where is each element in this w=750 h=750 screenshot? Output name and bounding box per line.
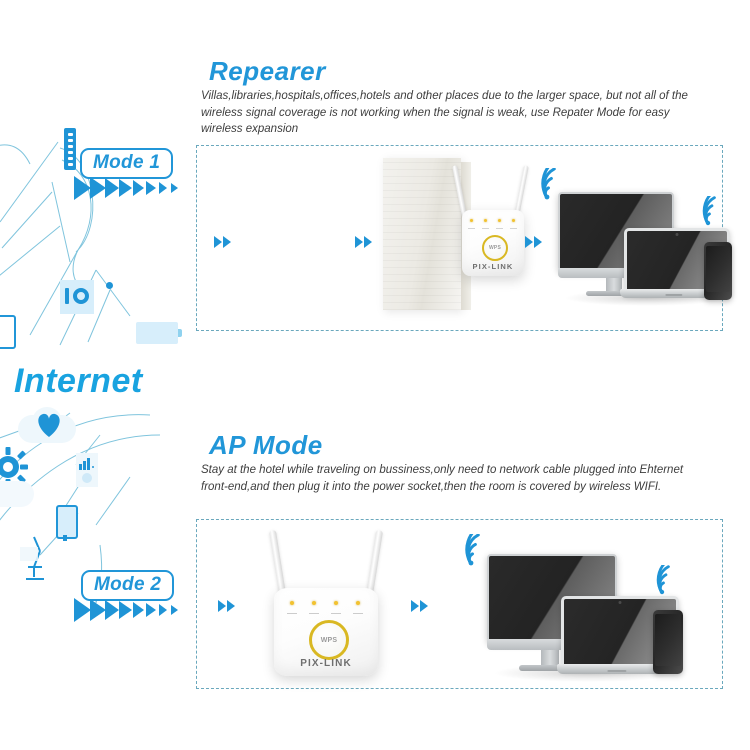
- arrow-icon: [171, 183, 178, 193]
- arrow-icon: [411, 600, 419, 612]
- arrow-icon: [90, 599, 106, 621]
- arrow-icon: [159, 604, 167, 616]
- screen-icon: [0, 315, 16, 349]
- repeater-body: WPS PIX-LINK: [462, 210, 524, 276]
- ap-mode-client-devices: [485, 552, 695, 682]
- arrow-icon: [218, 600, 226, 612]
- repeater-brand-label: PIX-LINK: [462, 262, 524, 271]
- wps-button-label: WPS: [321, 637, 338, 644]
- repeater-pre-wall-arrows: [355, 236, 372, 248]
- repeater-device: WPS PIX-LINK: [452, 168, 536, 280]
- smartphone: [653, 610, 683, 674]
- laptop-camera-icon: [676, 233, 679, 236]
- repeater-post-router-arrows: [525, 236, 542, 248]
- arrow-icon: [146, 603, 156, 617]
- led-indicator: [498, 219, 501, 222]
- arrow-icon: [171, 605, 178, 615]
- arrow-icon: [227, 600, 235, 612]
- node-dot-icon: [106, 282, 113, 289]
- led-indicator: [512, 219, 515, 222]
- wps-button-label: WPS: [489, 245, 501, 251]
- led-indicator: [334, 601, 338, 605]
- led-indicator: [356, 601, 360, 605]
- arrow-icon: [146, 181, 156, 195]
- ap-mode-section-description: Stay at the hotel while traveling on bus…: [201, 462, 691, 495]
- led-label-icon: [331, 608, 341, 614]
- arrow-icon: [420, 600, 428, 612]
- arrow-icon: [119, 179, 132, 197]
- ap-post-router-arrows: [411, 600, 428, 612]
- ap-mode-brand-label: PIX-LINK: [274, 658, 378, 669]
- mode-2-label: Mode 2: [94, 574, 161, 595]
- arrow-icon: [74, 598, 91, 622]
- desk-lamp-icon: [20, 533, 62, 583]
- led-indicator: [290, 601, 294, 605]
- arrow-icon: [534, 236, 542, 248]
- arrow-icon: [105, 600, 119, 620]
- ap-mode-device: WPS PIX-LINK: [258, 530, 394, 678]
- led-indicator: [484, 219, 487, 222]
- led-indicator: [312, 601, 316, 605]
- arrow-icon: [214, 236, 222, 248]
- ap-mode-body: WPS PIX-LINK: [274, 588, 378, 676]
- camera-icon: [60, 280, 94, 314]
- mode-1-label: Mode 1: [93, 152, 160, 173]
- repeater-section-description: Villas,libraries,hospitals,offices,hotel…: [201, 88, 691, 138]
- wps-button[interactable]: WPS: [309, 620, 349, 660]
- arrow-icon: [133, 180, 144, 196]
- mode-1-arrow-run: [74, 176, 178, 200]
- laptop-camera-icon: [619, 601, 622, 604]
- arrow-icon: [105, 178, 119, 198]
- smartphone-screen: [706, 246, 730, 292]
- led-label-icon: [510, 224, 517, 229]
- arrow-icon: [223, 236, 231, 248]
- arrow-icon: [90, 177, 106, 199]
- mode-1-badge[interactable]: Mode 1: [80, 148, 173, 179]
- cloud-heart-icon: [18, 407, 76, 445]
- led-indicator: [470, 219, 473, 222]
- led-label-icon: [496, 224, 503, 229]
- wps-button[interactable]: WPS: [482, 235, 508, 261]
- led-label-icon: [482, 224, 489, 229]
- mode-2-arrow-run: [74, 598, 178, 622]
- smartphone: [704, 242, 732, 300]
- arrow-icon: [159, 182, 167, 194]
- led-label-icon: [309, 608, 319, 614]
- arrow-icon: [74, 176, 91, 200]
- repeater-client-devices: [556, 190, 741, 305]
- arrow-icon: [364, 236, 372, 248]
- laptop-trackpad-notch: [665, 294, 682, 297]
- battery-icon: [136, 322, 178, 344]
- led-label-icon: [287, 608, 297, 614]
- cloud-shape-icon: [0, 481, 34, 507]
- mode-2-badge[interactable]: Mode 2: [81, 570, 174, 601]
- led-label-icon: [468, 224, 475, 229]
- smartphone-stand-icon: [63, 535, 67, 541]
- ap-inside-left-arrows: [218, 600, 235, 612]
- laptop-trackpad-notch: [607, 670, 626, 673]
- infographic-canvas: Repearer Villas,libraries,hospitals,offi…: [0, 0, 750, 750]
- ap-mode-section-title: AP Mode: [209, 430, 323, 461]
- repeater-section-title: Repearer: [209, 56, 326, 87]
- arrow-icon: [119, 601, 132, 619]
- repeater-inside-left-arrows: [214, 236, 231, 248]
- led-label-icon: [353, 608, 363, 614]
- server-rack-icon: [64, 128, 76, 170]
- smartphone-screen: [655, 614, 680, 665]
- signal-bars-icon: [76, 453, 98, 487]
- arrow-icon: [133, 602, 144, 618]
- arrow-icon: [525, 236, 533, 248]
- internet-label: Internet: [14, 362, 143, 401]
- arrow-icon: [355, 236, 363, 248]
